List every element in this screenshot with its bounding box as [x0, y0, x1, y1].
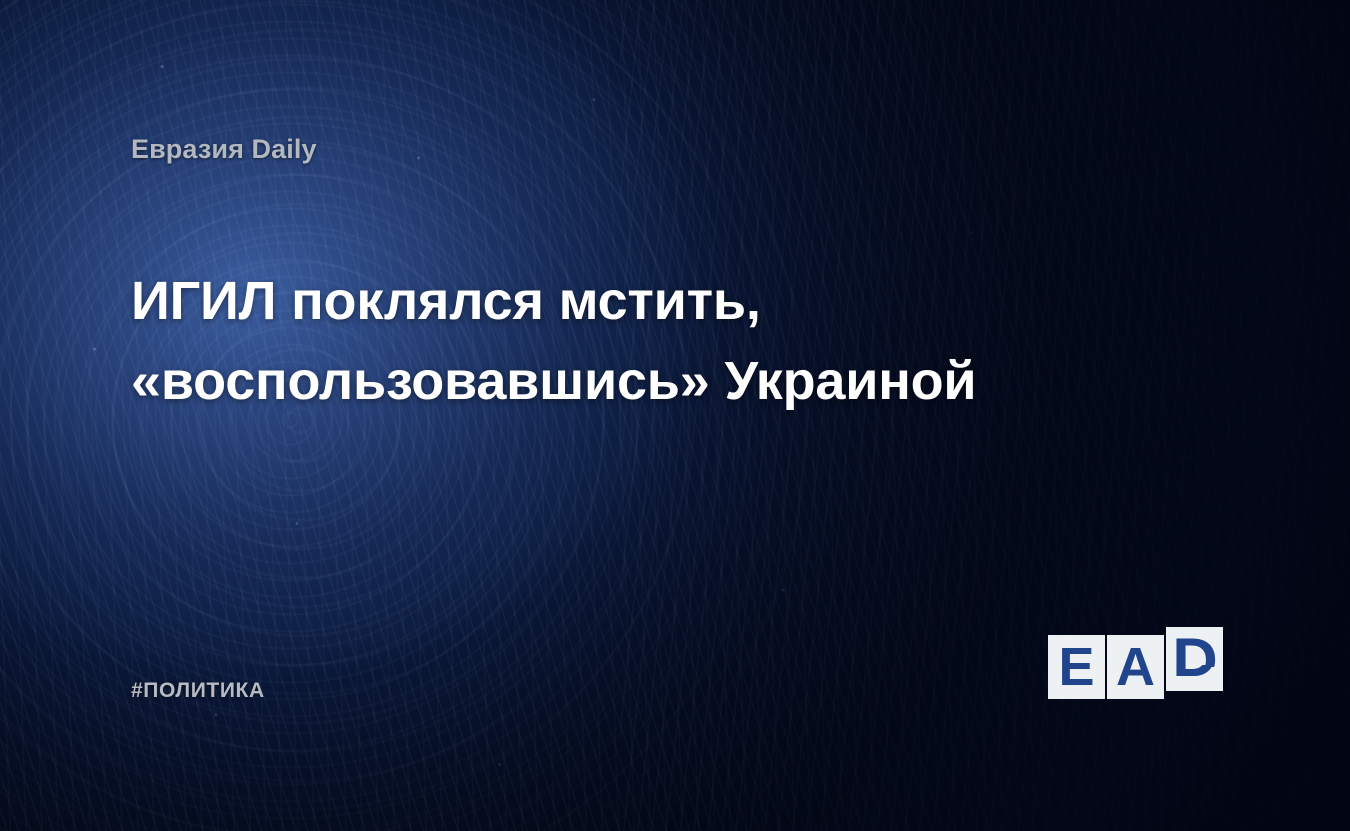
- brand-name: Евразия Daily: [131, 134, 317, 165]
- headline-line-1: ИГИЛ поклялся мстить,: [131, 261, 1131, 341]
- logo-letter-d-glyph-bottom: D: [1162, 665, 1228, 691]
- logo-letter-a: A: [1107, 635, 1164, 699]
- category-tag[interactable]: #ПОЛИТИКА: [131, 679, 265, 703]
- headline: ИГИЛ поклялся мстить, «воспользовавшись»…: [131, 261, 1131, 421]
- logo-letter-d-glyph-top: D: [1162, 629, 1228, 667]
- ead-logo[interactable]: E A D D: [1048, 627, 1224, 703]
- logo-letter-d-bottom-half: D: [1162, 665, 1228, 703]
- logo-letter-d: D D: [1162, 627, 1228, 703]
- headline-line-2: «воспользовавшись» Украиной: [131, 341, 1131, 421]
- logo-letter-d-top-half: D: [1162, 629, 1228, 667]
- logo-letter-e: E: [1048, 635, 1105, 699]
- news-cover-card: Евразия Daily ИГИЛ поклялся мстить, «вос…: [0, 0, 1350, 831]
